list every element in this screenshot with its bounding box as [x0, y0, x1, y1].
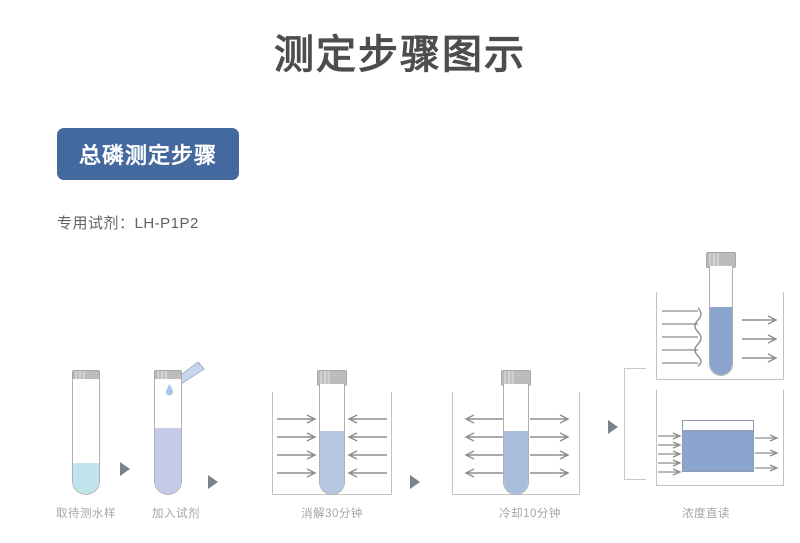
status-badge: 总磷测定步骤	[57, 128, 239, 180]
grouping-bracket	[624, 368, 646, 480]
step-2-add-reagent	[152, 365, 202, 495]
separator-triangle-2	[208, 475, 218, 489]
tube-liquid-cooled	[504, 431, 528, 494]
test-tube-4	[500, 370, 532, 495]
cuvette-transmitted-arrows-icon	[755, 436, 783, 472]
tube-body	[154, 379, 182, 495]
step-2-label: 加入试剂	[126, 505, 226, 521]
tube-body	[72, 379, 100, 495]
tube-body	[319, 384, 345, 495]
transmitted-light-arrows-icon	[742, 318, 782, 362]
separator-triangle-4	[608, 420, 618, 434]
cuvette-photometer	[656, 390, 784, 486]
tube-liquid-sample	[73, 463, 99, 494]
cuvette-incident-arrows-icon	[658, 434, 686, 474]
badge-label: 总磷测定步骤	[79, 138, 217, 170]
step-4-label: 冷却10分钟	[480, 505, 580, 521]
tube-body	[503, 384, 529, 495]
step-3-label: 消解30分钟	[282, 505, 382, 521]
droplet-icon	[166, 384, 173, 395]
incident-light-rays-icon	[662, 308, 708, 366]
step-5-direct-reading	[624, 280, 794, 495]
cool-arrows-left	[460, 415, 504, 479]
page-title: 测定步骤图示	[0, 22, 800, 80]
cool-arrows-right	[530, 415, 574, 479]
test-tube-2	[152, 370, 184, 495]
separator-triangle-3	[410, 475, 420, 489]
tube-liquid-read	[710, 307, 732, 375]
tube-body	[709, 266, 733, 376]
tube-photometer	[656, 280, 784, 380]
separator-triangle-1	[120, 462, 130, 476]
reagent-text: 专用试剂：LH-P1P2	[57, 212, 199, 233]
cuvette-liquid	[683, 430, 753, 471]
tube-liquid-digest	[320, 431, 344, 494]
step-4-cooling	[452, 370, 580, 495]
step-3-digestion	[272, 370, 392, 495]
test-tube-1	[70, 370, 102, 495]
test-tube-5	[706, 252, 736, 376]
procedure-diagram: 取待测水样 加入试剂	[0, 270, 800, 543]
heat-arrows-right	[343, 415, 387, 479]
heat-arrows-left	[277, 415, 321, 479]
step-5-label: 浓度直读	[656, 505, 756, 521]
step-1-label: 取待测水样	[36, 505, 136, 521]
cuvette-cell	[682, 420, 754, 472]
tube-liquid-reagent	[155, 428, 181, 494]
step-1-take-sample	[70, 370, 102, 495]
test-tube-3	[316, 370, 348, 495]
